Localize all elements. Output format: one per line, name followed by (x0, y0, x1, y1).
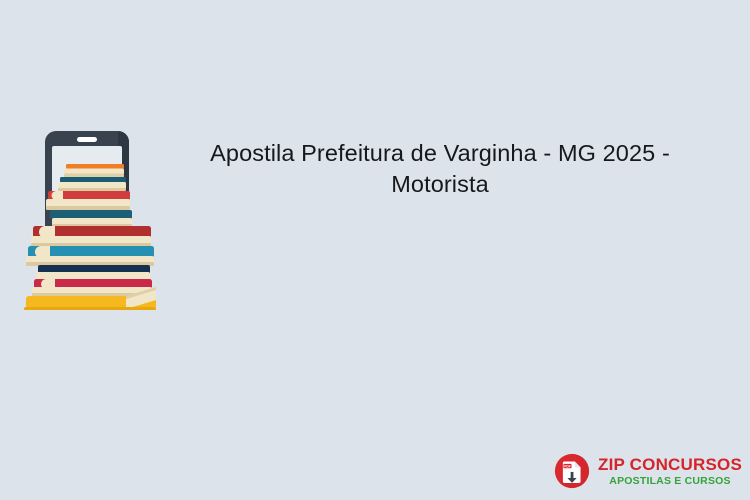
brand-tagline: APOSTILAS E CURSOS (598, 476, 742, 487)
brand-wordmark: ZIP CONCURSOS APOSTILAS E CURSOS (598, 456, 742, 487)
brand-logo[interactable]: PDF ZIP CONCURSOS APOSTILAS E CURSOS (553, 452, 742, 490)
page-title: Apostila Prefeitura de Varginha - MG 202… (190, 138, 690, 200)
brand-name: ZIP CONCURSOS (598, 456, 742, 473)
pdf-download-circle-icon: PDF (553, 452, 591, 490)
product-illustration (8, 125, 183, 310)
book-stack-middle (26, 226, 154, 297)
svg-text:PDF: PDF (564, 464, 570, 468)
